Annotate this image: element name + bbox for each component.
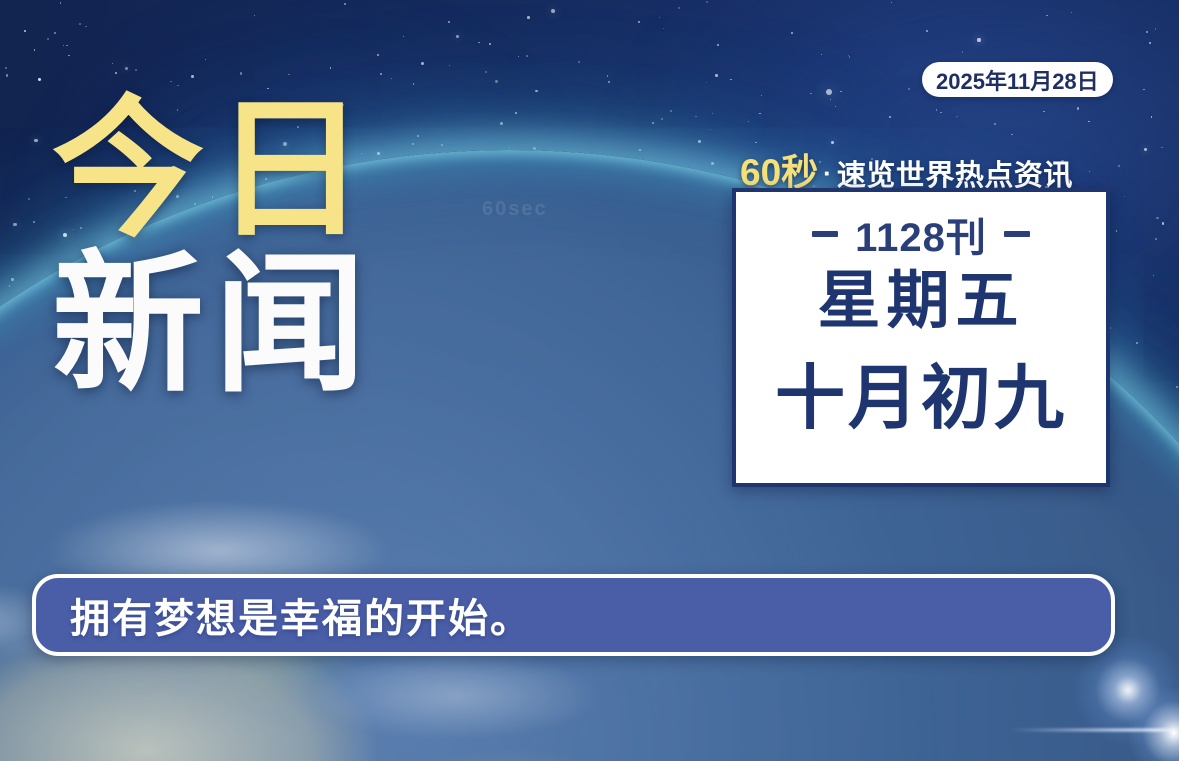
news-poster: 60sec 今日 新闻 2025年11月28日 60秒 · 速览世界热点资讯 1… bbox=[0, 0, 1179, 761]
lens-flare-core bbox=[1129, 688, 1179, 761]
issue-dash-right-icon bbox=[1004, 231, 1030, 237]
issue-dash-left-icon bbox=[812, 231, 838, 237]
date-badge-text: 2025年11月28日 bbox=[936, 64, 1099, 96]
date-badge: 2025年11月28日 bbox=[922, 62, 1113, 97]
watermark-text: 60sec bbox=[482, 198, 548, 221]
issue-number: 1128刊 bbox=[855, 205, 987, 263]
tagline-separator: · bbox=[823, 158, 832, 189]
weekday-text: 星期五 bbox=[818, 270, 1025, 333]
lunar-date-text: 十月初九 bbox=[775, 363, 1067, 433]
date-info-card: 1128刊 星期五 十月初九 bbox=[732, 188, 1110, 487]
quote-banner: 拥有梦想是幸福的开始。 bbox=[32, 574, 1115, 656]
quote-text: 拥有梦想是幸福的开始。 bbox=[36, 586, 532, 644]
poster-title: 今日 新闻 bbox=[52, 96, 376, 400]
title-line-jinri: 今日 bbox=[52, 96, 376, 245]
title-line-xinwen: 新闻 bbox=[52, 251, 376, 400]
issue-row: 1128刊 bbox=[812, 206, 1030, 262]
